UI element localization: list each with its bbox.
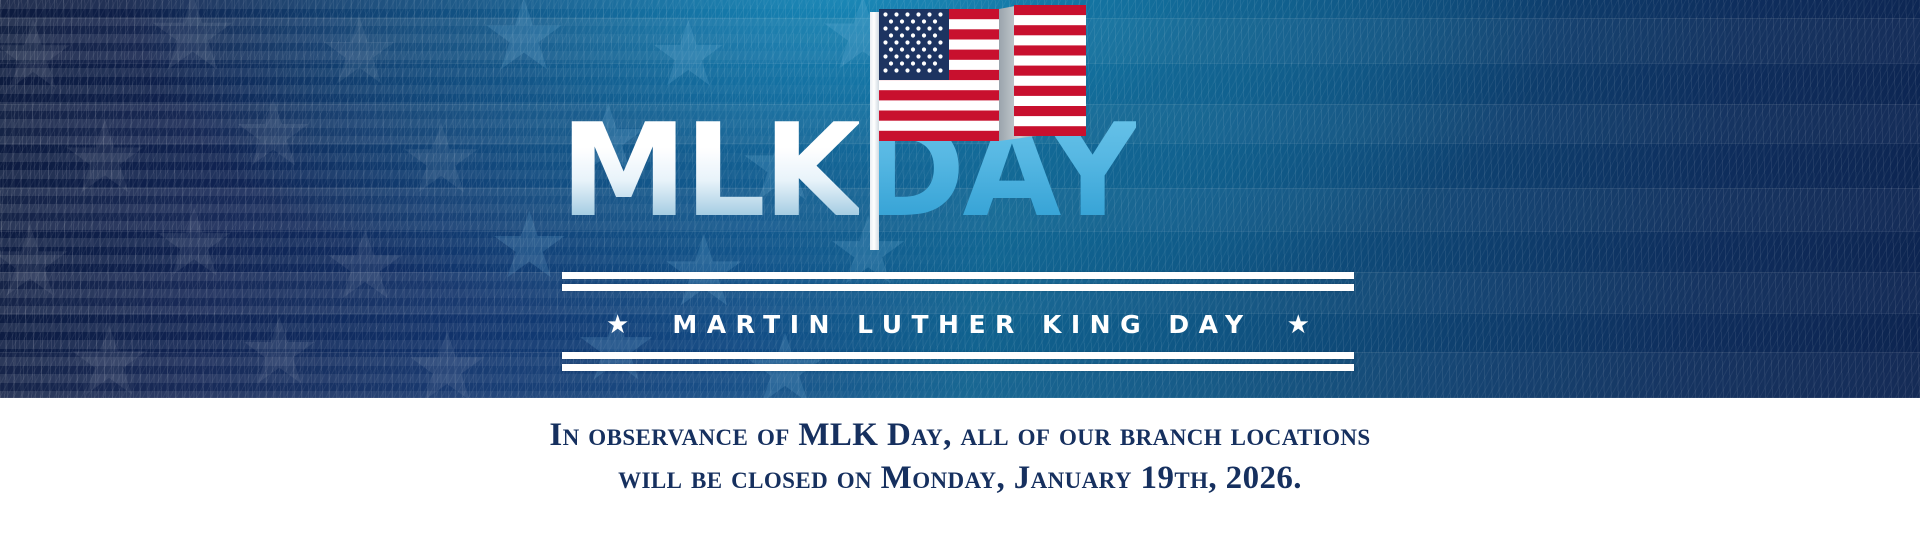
subtitle-text: MARTIN LUTHER KING DAY <box>663 310 1252 339</box>
divider-rule-top-2 <box>562 284 1354 291</box>
headline-primary: MLK <box>560 97 859 246</box>
divider-rule-bottom-2 <box>562 364 1354 371</box>
mlk-day-announcement-banner-page: ★ ★ ★ ★ ★ ★ ★ ★ ★ ★ ★ ★ ★ ★ ★ ★ ★ ★ ★ ★ … <box>0 0 1920 550</box>
notice-line-2: will be closed on Monday, January 19th, … <box>618 457 1302 500</box>
closure-notice: In observance of MLK Day, all of our bra… <box>0 398 1920 550</box>
subtitle-row: ★ MARTIN LUTHER KING DAY ★ <box>562 300 1354 348</box>
star-icon-left: ★ <box>606 311 629 337</box>
american-flag-icon <box>868 0 1098 250</box>
mlk-logo-block: MLKDAY ★ MARTIN LUTHER KING DAY ★ <box>0 0 1920 398</box>
divider-rule-top-1 <box>562 272 1354 279</box>
notice-line-1: In observance of MLK Day, all of our bra… <box>549 414 1370 457</box>
star-icon-right: ★ <box>1287 311 1310 337</box>
hero-banner: ★ ★ ★ ★ ★ ★ ★ ★ ★ ★ ★ ★ ★ ★ ★ ★ ★ ★ ★ ★ … <box>0 0 1920 398</box>
divider-rule-bottom-1 <box>562 352 1354 359</box>
